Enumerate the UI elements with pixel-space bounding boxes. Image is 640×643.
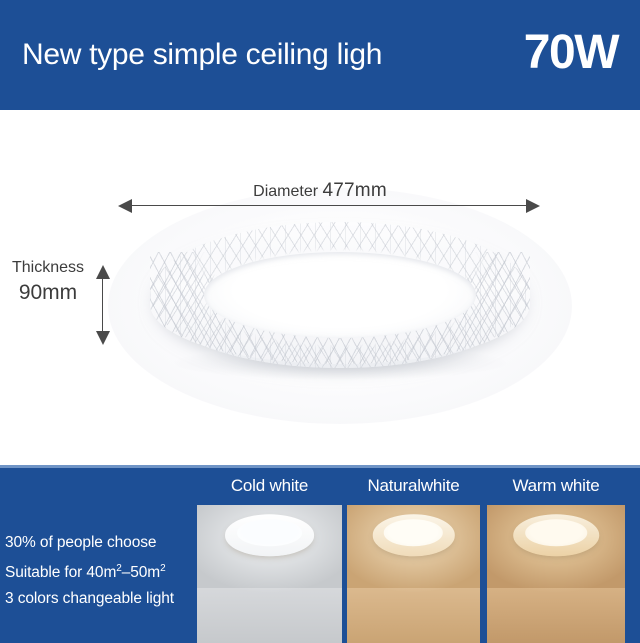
mini-lamp (225, 515, 315, 556)
header-banner: New type simple ceiling ligh 70W (0, 0, 640, 110)
blurb-area-prefix: Suitable for 40m (5, 564, 116, 581)
swatch-label-cold-white: Cold white (197, 476, 342, 496)
swatch-photo-natural-white (347, 505, 480, 643)
swatch-cold-white[interactable]: Cold white (197, 468, 342, 643)
thickness-label-text: Thickness (2, 255, 94, 280)
blurb-line-colors: 3 colors changeable light (5, 586, 195, 612)
mini-lamp-core (525, 520, 587, 546)
room-floor (197, 588, 342, 643)
swatch-photo-warm-white (487, 505, 625, 643)
room-scene (487, 505, 625, 643)
swatch-photo-cold-white (197, 505, 342, 643)
swatch-warm-white[interactable]: Warm white (487, 468, 625, 643)
lamp-diffuser (204, 252, 476, 338)
feature-blurb: 30% of people choose Suitable for 40m2–5… (5, 530, 195, 612)
double-arrow-horizontal-icon (118, 198, 540, 214)
room-scene (347, 505, 480, 643)
room-scene (197, 505, 342, 643)
product-dimension-section: Diameter 477mm Thickness 90mm (0, 110, 640, 465)
page-title: New type simple ceiling ligh (22, 30, 382, 80)
color-temperature-section: 30% of people choose Suitable for 40m2–5… (0, 465, 640, 643)
room-floor (487, 588, 625, 643)
blurb-line-area: Suitable for 40m2–50m2 (5, 556, 195, 586)
blurb-area-middle: –50m (122, 564, 160, 581)
mini-lamp (513, 515, 599, 556)
arrow-head-down (96, 331, 110, 345)
arrow-head-right (526, 199, 540, 213)
ceiling-lamp-illustration (150, 222, 530, 382)
swatch-label-natural-white: Naturalwhite (347, 476, 480, 496)
arrow-shaft-horizontal (126, 205, 532, 206)
thickness-label: Thickness 90mm (2, 255, 94, 305)
room-floor (347, 588, 480, 643)
swatch-label-warm-white: Warm white (487, 476, 625, 496)
blurb-line-popularity: 30% of people choose (5, 530, 195, 556)
double-arrow-vertical-icon (95, 265, 111, 345)
product-infographic: New type simple ceiling ligh 70W Diamete… (0, 0, 640, 640)
arrow-shaft-vertical (102, 273, 103, 337)
blurb-area-sup-2: 2 (160, 563, 165, 574)
wattage-badge: 70W (524, 24, 618, 82)
thickness-value: 90mm (2, 280, 94, 305)
swatch-natural-white[interactable]: Naturalwhite (347, 468, 480, 643)
